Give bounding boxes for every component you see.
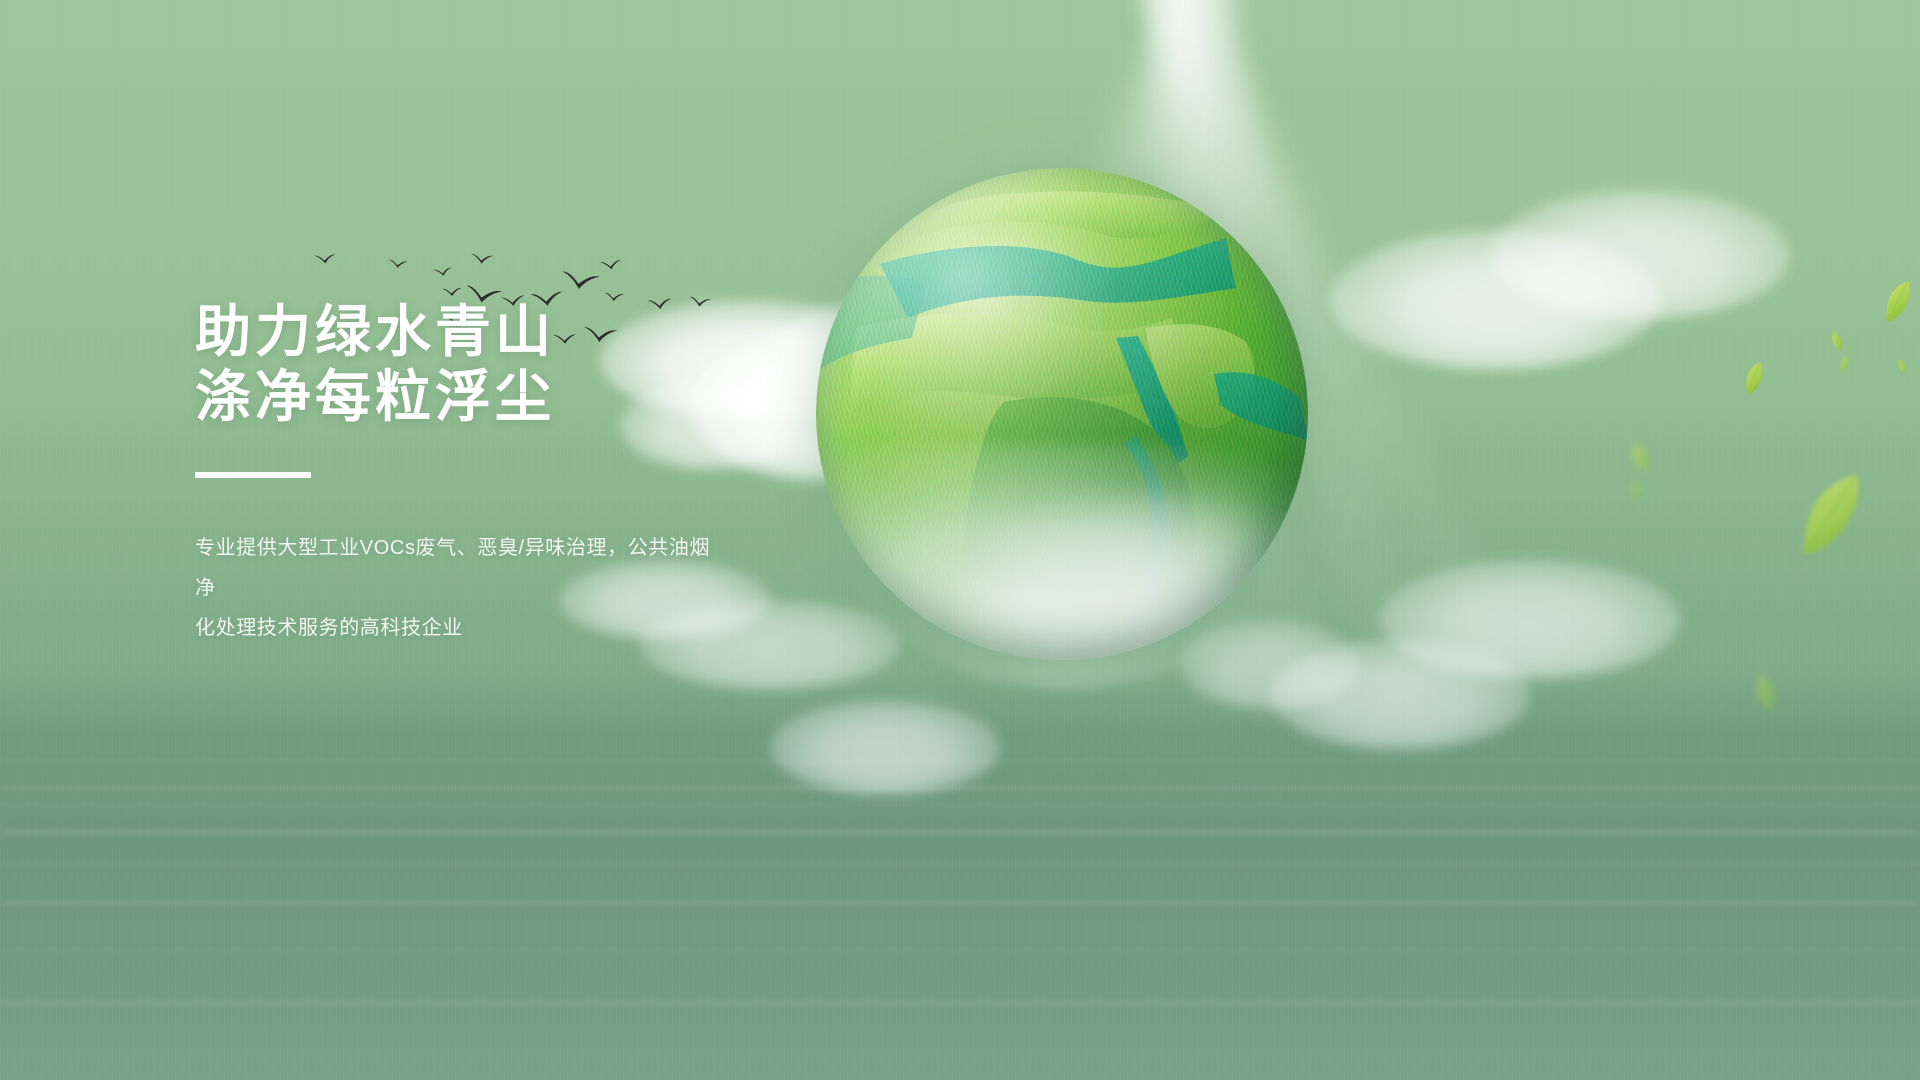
water-ripple [0, 786, 1920, 790]
water-ripple [0, 1000, 1920, 1006]
leaf-icon [1606, 432, 1674, 483]
water-ripple [0, 948, 1920, 952]
subtitle-line-1: 专业提供大型工业VOCs废气、恶臭/异味治理，公共油烟净 [195, 537, 710, 599]
headline-line-2: 涤净每粒浮尘 [195, 365, 755, 430]
leaf-icon [1828, 352, 1859, 375]
cloud [1490, 190, 1790, 320]
water-ripple [0, 830, 1920, 835]
leaf-icon [1613, 474, 1658, 507]
water-ripple [0, 900, 1920, 906]
earth-globe [816, 168, 1308, 660]
water-ripple [0, 804, 1920, 807]
leaf-icon [1774, 453, 1888, 575]
bird-icon [559, 269, 601, 292]
headline-line-1: 助力绿水青山 [195, 300, 555, 363]
leaf-icon [1720, 350, 1787, 405]
title-divider [195, 472, 311, 478]
bird-icon [433, 266, 453, 277]
leaf-icon [1873, 269, 1920, 332]
page-title: 助力绿水青山 涤净每粒浮尘 [195, 300, 755, 430]
globe-rim-light [816, 168, 1308, 660]
bird-icon [314, 253, 337, 264]
bird-icon [441, 287, 462, 297]
bird-icon [599, 259, 622, 272]
hero-subtitle: 专业提供大型工业VOCs废气、恶臭/异味治理，公共油烟净 化处理技术服务的高科技… [195, 528, 725, 648]
cloud [1330, 230, 1660, 370]
cloud [1380, 560, 1680, 680]
water-ripple [0, 862, 1920, 866]
hero-copy: 助力绿水青山 涤净每粒浮尘 专业提供大型工业VOCs废气、恶臭/异味治理，公共油… [195, 300, 755, 668]
subtitle-line-2: 化处理技术服务的高科技企业 [195, 617, 463, 639]
water-surface [0, 672, 1920, 1080]
bird-icon [470, 253, 494, 265]
leaf-icon [1888, 354, 1916, 377]
water-ripple [0, 760, 1920, 763]
bird-icon [388, 258, 409, 269]
hero-banner: 助力绿水青山 涤净每粒浮尘 专业提供大型工业VOCs废气、恶臭/异味治理，公共油… [0, 0, 1920, 1080]
leaf-icon [1818, 326, 1857, 357]
